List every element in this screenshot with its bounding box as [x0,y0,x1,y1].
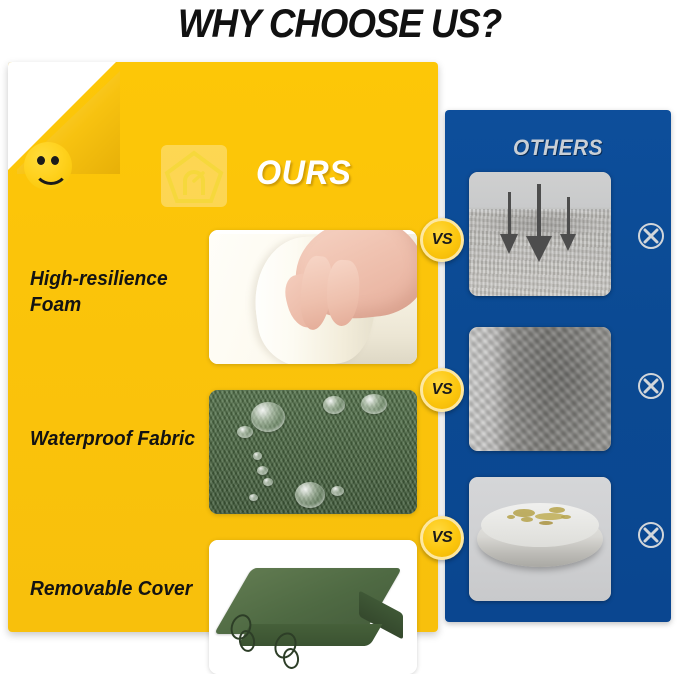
water-droplet [323,396,345,414]
water-droplet [331,486,344,496]
feature-label-removable-cover: Removable Cover [30,577,198,603]
others-photo-stained-cushion [469,477,611,601]
others-label: OTHERS [451,135,666,161]
others-photo-sagging-foam [469,172,611,296]
feature-label-waterproof-fabric: Waterproof Fabric [30,427,198,453]
vs-badge: VS [420,516,464,560]
water-droplet [295,482,325,508]
ours-label: OURS [256,154,351,193]
infographic-canvas: WHY CHOOSE US? OTHERS [0,0,679,662]
ours-panel: OURS High-resilience Foam Waterproof Fab… [8,62,438,632]
gray-round-cushion [477,511,603,567]
gray-fabric-texture [469,327,611,451]
ours-photo-removable-cover [209,540,417,674]
vs-badge: VS [420,218,464,262]
circled-x-icon [637,222,665,250]
feature-label-high-resilience-foam: High-resilience Foam [30,267,198,318]
ours-photo-waterproof-fabric [209,390,417,514]
water-droplet [249,494,258,501]
water-droplet [251,402,285,432]
water-droplet [361,394,387,414]
home-pentagon-icon [161,145,227,207]
smiley-face-icon [24,142,72,190]
water-droplet [263,478,273,486]
water-droplet [257,466,268,475]
others-photo-stained-fabric [469,327,611,451]
circled-x-icon [637,521,665,549]
page-title: WHY CHOOSE US? [27,2,652,47]
water-droplet [253,452,262,460]
water-droplet [237,426,253,438]
ours-photo-hand-squeezing-foam [209,230,417,364]
circled-x-icon [637,372,665,400]
cushion-front-edge [238,624,383,646]
vs-badge: VS [420,368,464,412]
